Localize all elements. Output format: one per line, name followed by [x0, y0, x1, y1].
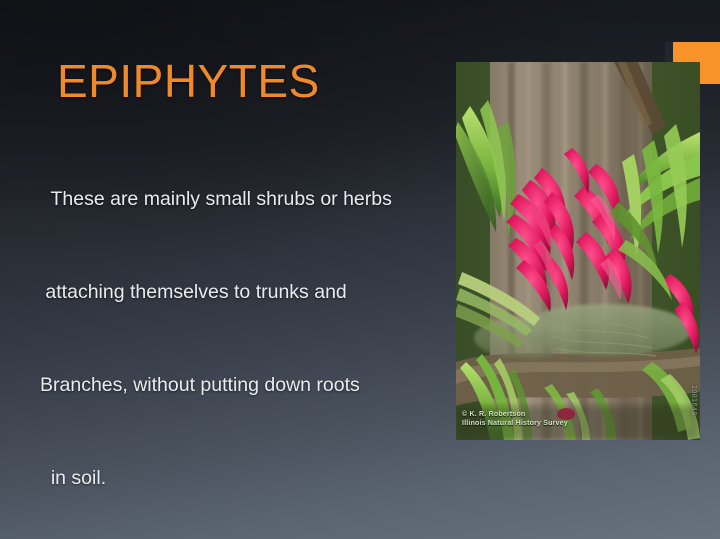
body-line: attaching themselves to trunks and — [40, 277, 450, 308]
photo-caption: © K. R. Robertson Illinois Natural Histo… — [462, 410, 568, 428]
body-line: Branches, without putting down roots — [40, 370, 450, 401]
photo-caption-line-2: Illinois Natural History Survey — [462, 419, 568, 428]
photo-artwork — [456, 62, 700, 440]
body-line: in soil. — [40, 463, 450, 494]
photo-watermark: 1081645 — [690, 385, 697, 416]
slide: EPIPHYTES These are mainly small shrubs … — [0, 0, 720, 539]
epiphyte-photograph: © K. R. Robertson Illinois Natural Histo… — [456, 62, 700, 440]
body-line: These are mainly small shrubs or herbs — [40, 184, 450, 215]
photo-caption-line-1: © K. R. Robertson — [462, 410, 568, 419]
body-text: These are mainly small shrubs or herbs a… — [40, 122, 450, 539]
page-title: EPIPHYTES — [57, 55, 320, 107]
